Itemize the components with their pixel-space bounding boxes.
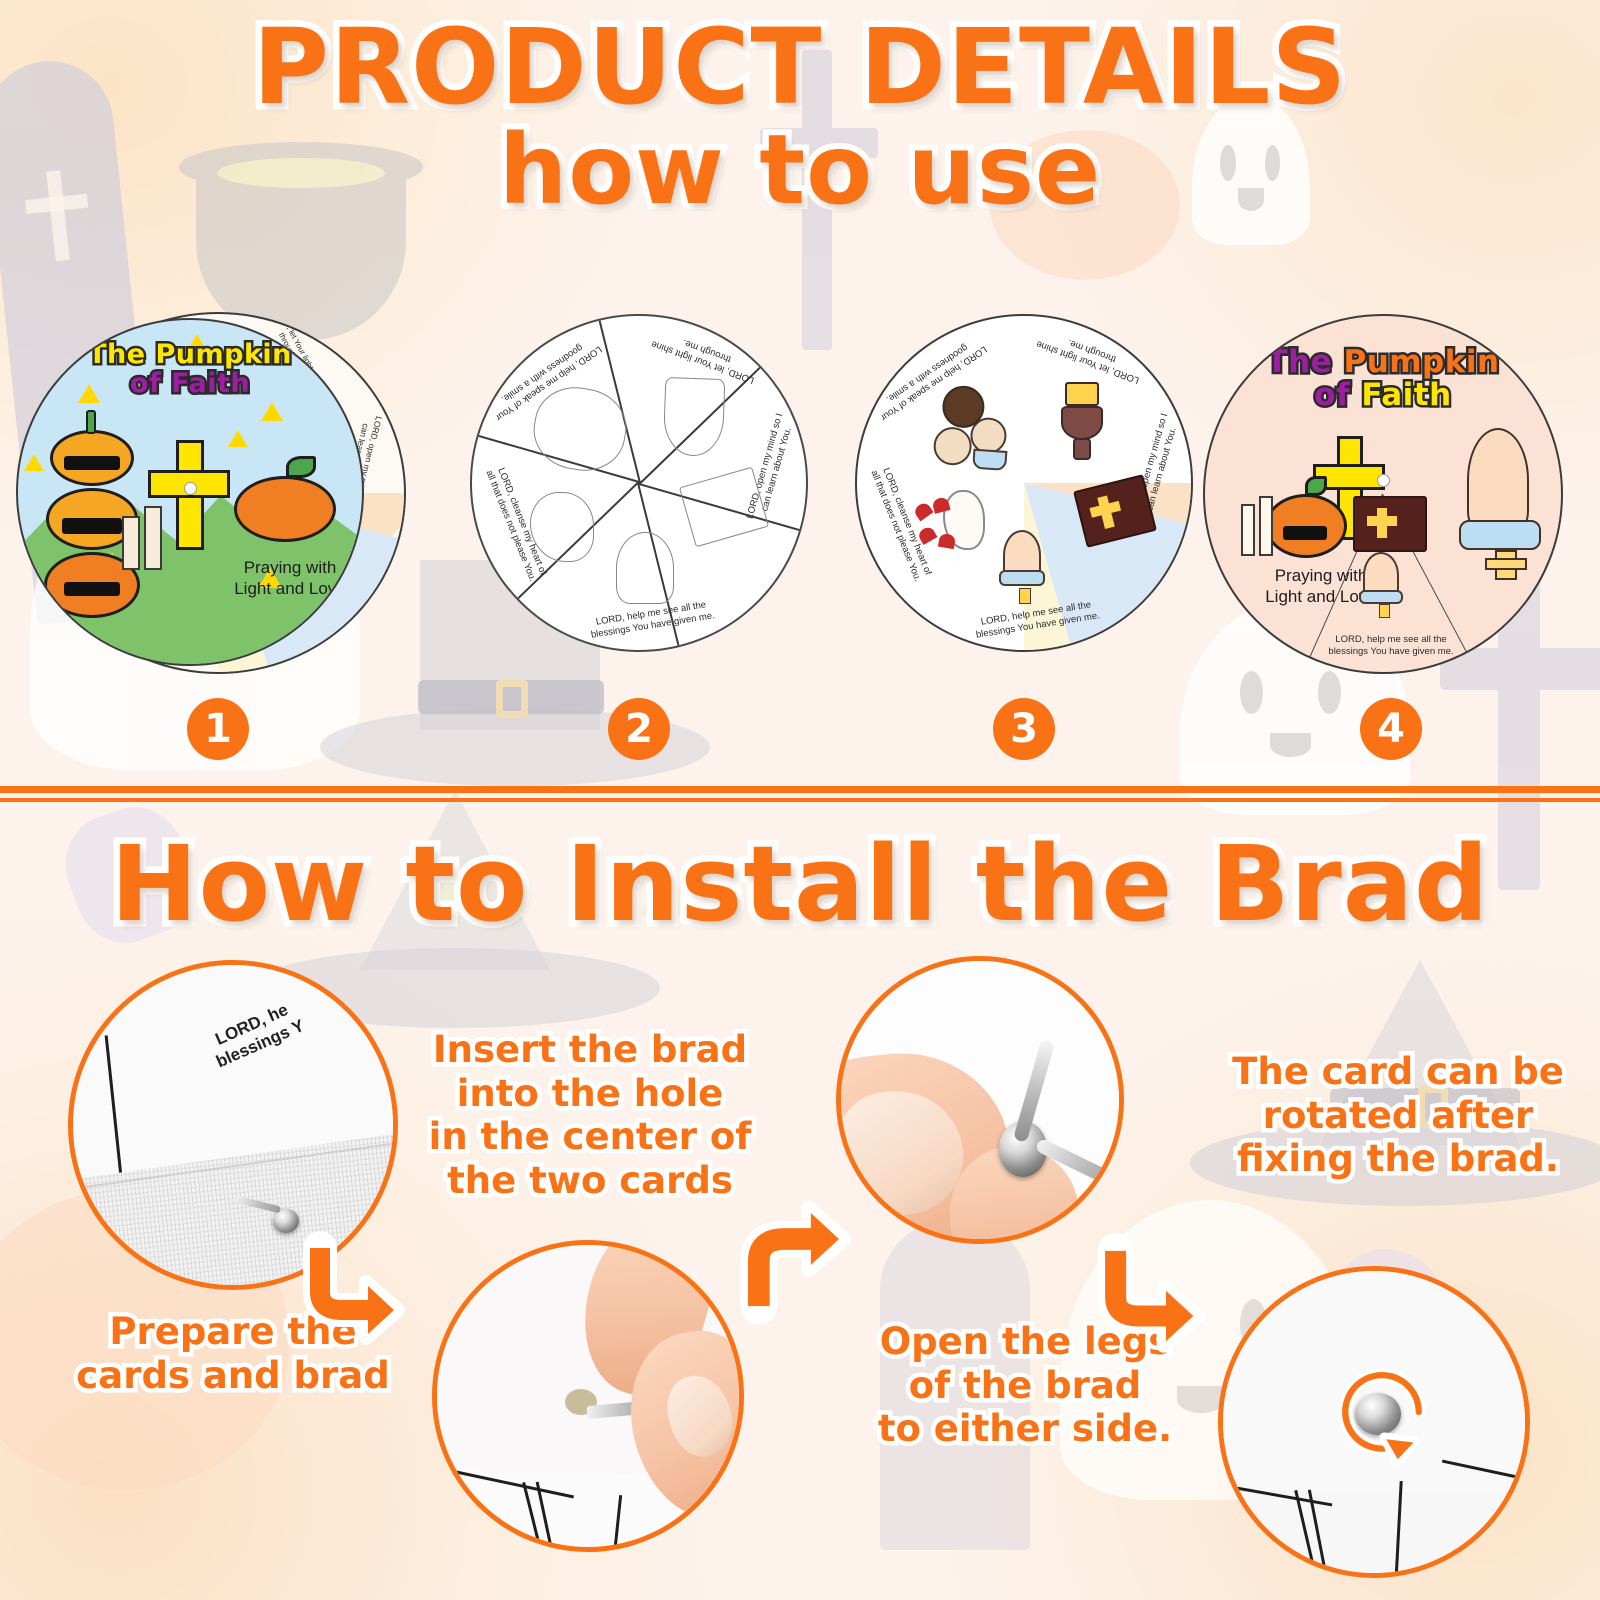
segment-blessings-text: LORD, help me see all the blessings You … [1321, 634, 1461, 658]
card-title-faith: Faith [1361, 377, 1451, 413]
pumpkin-icon-card [1265, 488, 1347, 558]
step-3: LORD, let Your light shine through me. L… [855, 300, 1195, 700]
card-title-the: The [88, 339, 145, 370]
center-hole [184, 482, 197, 495]
instruction-rotate: The card can be rotated after fixing the… [1208, 1050, 1588, 1181]
card-title-pumpkin: Pumpkin [155, 339, 291, 370]
step-badge-4: 4 [1360, 698, 1422, 760]
step-1: LORD, let Your light shine through me. L… [12, 300, 432, 700]
photo-open-brad-legs [836, 956, 1124, 1244]
page-subtitle: how to use [0, 122, 1600, 218]
card-title-of: of [1314, 377, 1350, 413]
bible-icon [1353, 496, 1427, 552]
candle-icon [144, 506, 162, 570]
instruction-open-legs-line3: to either side. [850, 1407, 1200, 1451]
card-title-the: The [1266, 344, 1332, 380]
rotation-arrow-icon [1319, 1349, 1445, 1475]
instruction-open-legs-line2: of the brad [850, 1364, 1200, 1408]
step-badge-2: 2 [608, 698, 670, 760]
bell-icon-outline [663, 377, 726, 457]
card-subtitle: Praying with Light and Love [218, 558, 362, 599]
card-title-pumpkin: Pumpkin [1343, 344, 1499, 380]
instruction-insert: Insert the brad into the hole in the cen… [420, 1028, 760, 1203]
children-faces-icon [914, 381, 1016, 473]
praying-hands-rosary-icon [1455, 428, 1551, 588]
star-icon [261, 402, 283, 421]
instruction-prepare-line2: cards and brad [58, 1354, 408, 1398]
arrow-icon-3 [1082, 1232, 1208, 1358]
step-badge-1: 1 [187, 698, 249, 760]
pumpkin-icon-card [234, 470, 336, 542]
praying-hands-icon-outline [616, 532, 674, 604]
photo-rotate-card [1218, 1266, 1530, 1578]
instruction-insert-line2: into the hole [420, 1072, 760, 1116]
brad-install-steps: LORD, heblessings Y Prepare the cards an… [0, 940, 1600, 1600]
instruction-insert-line3: in the center of [420, 1115, 760, 1159]
bible-icon-outline [679, 467, 769, 548]
card-title: The Pumpkin of Faith [18, 340, 362, 398]
hearts-cloud-icon [913, 488, 985, 560]
arrow-icon-1 [290, 1230, 410, 1350]
card-subtitle-line1: Praying with [218, 558, 362, 579]
candle-icon [1241, 504, 1255, 556]
page-header: PRODUCT DETAILS how to use [0, 14, 1600, 218]
step-2: LORD, let Your light shine through me. L… [470, 300, 810, 700]
card-subtitle-line2: Light and Love [218, 579, 362, 600]
brad-section-header: How to Install the Brad [0, 832, 1600, 936]
star-icon [228, 430, 248, 447]
center-hole [1377, 474, 1390, 487]
bell-icon [1055, 376, 1111, 448]
card-title-of: of [130, 368, 161, 399]
step-badge-3: 3 [993, 698, 1055, 760]
wheel-line-art-step2: LORD, let Your light shine through me. L… [470, 314, 808, 652]
arrow-icon-2 [722, 1200, 852, 1330]
instruction-rotate-line1: The card can be [1208, 1050, 1588, 1094]
card-title-faith: Faith [171, 368, 250, 399]
photo-insert-brad [432, 1240, 744, 1552]
instruction-insert-line1: Insert the brad [420, 1028, 760, 1072]
praying-hands-rosary-icon-wedge [1357, 552, 1413, 618]
step-4: The Pumpkin of Faith [1195, 300, 1595, 700]
card-title: The Pumpkin of Faith [1205, 346, 1561, 413]
candle-icon [1259, 496, 1273, 556]
praying-hands-rosary-icon [997, 530, 1057, 604]
wheel-back-step4: The Pumpkin of Faith [1203, 314, 1563, 674]
wheel-colored-step3: LORD, let Your light shine through me. L… [855, 314, 1193, 652]
how-to-use-steps: LORD, let Your light shine through me. L… [0, 300, 1600, 770]
section-divider [0, 786, 1600, 802]
candle-icon [122, 516, 140, 570]
brad-section-title: How to Install the Brad [0, 832, 1600, 936]
instruction-rotate-line3: fixing the brad. [1208, 1137, 1588, 1181]
page-title: PRODUCT DETAILS [0, 14, 1600, 120]
instruction-rotate-line2: rotated after [1208, 1094, 1588, 1138]
instruction-insert-line4: the two cards [420, 1159, 760, 1203]
